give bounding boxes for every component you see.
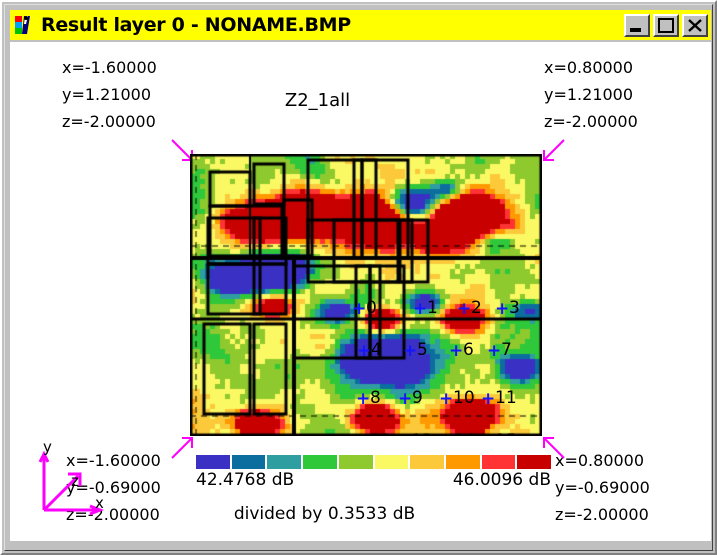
marker-label-2: 2 [471,298,482,318]
legend-swatch-2 [267,455,301,469]
marker-label-8: 8 [370,388,381,408]
marker-label-14: 14 [453,431,475,436]
axis-label-y: y [43,438,52,456]
marker-cross-11[interactable]: + [481,391,495,408]
marker-cross-15[interactable]: + [481,434,495,436]
legend-min-label: 42.4768 dB [196,470,294,490]
coord-x: x=-1.60000 [62,54,157,81]
marker-cross-2[interactable]: + [457,301,471,318]
marker-cross-6[interactable]: + [449,343,463,360]
window-title: Result layer 0 - NONAME.BMP [41,14,624,36]
marker-label-9: 9 [412,388,423,408]
axis-label-z: z [71,472,79,490]
legend-swatch-7 [446,455,480,469]
color-legend-bar [196,455,551,469]
marker-label-11: 11 [495,388,517,408]
marker-label-4: 4 [371,340,382,360]
plot-title: Z2_1all [10,90,711,111]
marker-cross-13[interactable]: + [397,434,411,436]
marker-label-13: 13 [411,431,433,436]
legend-swatch-3 [303,455,337,469]
marker-cross-9[interactable]: + [398,391,412,408]
close-button[interactable] [682,14,708,37]
marker-label-7: 7 [501,340,512,360]
coord-x: x=0.80000 [544,54,638,81]
legend-footer: divided by 0.3533 dB [10,504,711,524]
legend-swatch-0 [196,455,230,469]
marker-label-10: 10 [453,388,475,408]
marker-cross-7[interactable]: + [487,343,501,360]
legend-swatch-8 [482,455,516,469]
coord-y: y=-0.69000 [555,474,650,501]
maximize-button[interactable] [653,14,679,37]
marker-cross-12[interactable]: + [356,434,370,436]
minimize-button[interactable] [624,14,650,37]
app-icon [14,14,36,36]
marker-label-5: 5 [417,340,428,360]
marker-label-0: 0 [366,298,377,318]
heatmap-plot[interactable]: +0+1+2+3+4+5+6+7+8+9+10+11+12+13+14+15 [190,154,542,436]
result-canvas[interactable]: x=-1.60000 y=1.21000 z=-2.00000 x=0.8000… [10,42,711,541]
coord-z: z=-2.00000 [544,108,638,135]
color-legend-labels: 42.4768 dB 46.0096 dB [196,470,551,494]
marker-cross-0[interactable]: + [352,301,366,318]
plot-title-text: Z2_1all [285,90,350,111]
marker-cross-1[interactable]: + [413,301,427,318]
marker-cross-8[interactable]: + [356,391,370,408]
color-legend: 42.4768 dB 46.0096 dB [196,455,551,494]
marker-cross-10[interactable]: + [439,391,453,408]
legend-swatch-9 [517,455,551,469]
marker-label-1: 1 [427,298,438,318]
marker-cross-4[interactable]: + [357,343,371,360]
legend-footer-text: divided by 0.3533 dB [234,504,415,524]
coord-z: z=-2.00000 [62,108,157,135]
marker-cross-3[interactable]: + [495,301,509,318]
legend-swatch-1 [232,455,266,469]
marker-label-6: 6 [463,340,474,360]
marker-label-15: 15 [495,431,517,436]
legend-swatch-4 [339,455,373,469]
coord-x: x=0.80000 [555,447,650,474]
application-window: Result layer 0 - NONAME.BMP x=-1.60000 y… [0,0,717,555]
marker-label-3: 3 [509,298,520,318]
marker-cross-14[interactable]: + [439,434,453,436]
legend-max-label: 46.0096 dB [453,470,551,490]
legend-swatch-5 [375,455,409,469]
marker-label-12: 12 [370,431,392,436]
marker-cross-5[interactable]: + [403,343,417,360]
title-bar[interactable]: Result layer 0 - NONAME.BMP [10,10,711,40]
legend-swatch-6 [410,455,444,469]
